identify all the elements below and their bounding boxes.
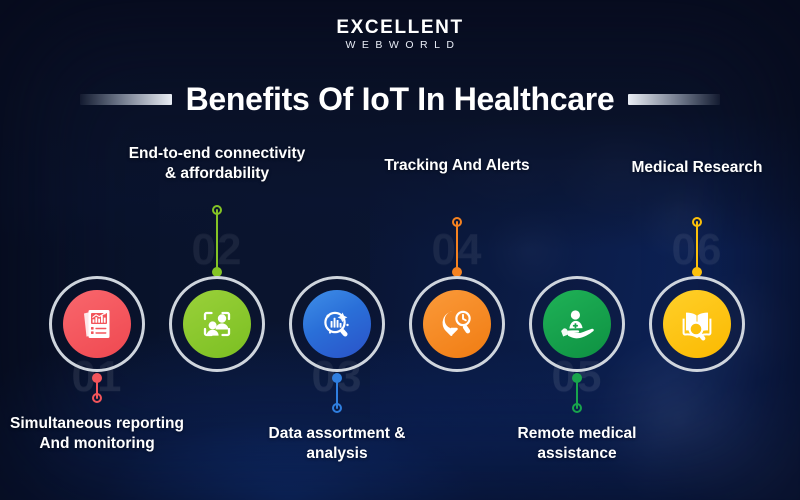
benefit-icon-circle[interactable] (409, 276, 505, 372)
connector-ring-icon (572, 403, 582, 413)
report-chart-icon (63, 290, 131, 358)
brand-logo: EXCELLENT WEBWORLD (0, 17, 800, 52)
title-decoration-right-icon (628, 94, 720, 105)
connector-ring-icon (452, 217, 462, 227)
benefit-icon-circle[interactable] (289, 276, 385, 372)
connector-ring-icon (92, 393, 102, 403)
title-row: Benefits Of IoT In Healthcare (0, 78, 800, 120)
title-decoration-left-icon (80, 94, 172, 105)
people-connect-icon (183, 290, 251, 358)
benefit-icon-circle[interactable] (169, 276, 265, 372)
connector-ring-icon (212, 205, 222, 215)
location-clock-icon (423, 290, 491, 358)
benefits-list: 01Simultaneous reporting And monitoring … (0, 0, 800, 500)
chart-magnifier-icon (303, 290, 371, 358)
connector-line (456, 222, 458, 272)
page-title: Benefits Of IoT In Healthcare (186, 81, 615, 118)
benefit-label: Simultaneous reporting And monitoring (2, 414, 192, 454)
benefit-label: Data assortment & analysis (242, 424, 432, 464)
book-magnifier-icon (663, 290, 731, 358)
connector-ring-icon (332, 403, 342, 413)
benefit-icon-circle[interactable] (649, 276, 745, 372)
brand-tagline: WEBWORLD (0, 38, 800, 52)
benefit-icon-circle[interactable] (529, 276, 625, 372)
benefit-label: Medical Research (602, 158, 792, 178)
connector-dot-icon (572, 373, 582, 383)
benefit-label: End-to-end connectivity & affordability (122, 144, 312, 184)
connector-line (696, 222, 698, 272)
hand-patient-icon (543, 290, 611, 358)
benefit-label: Remote medical assistance (482, 424, 672, 464)
brand-name: EXCELLENT (0, 17, 800, 38)
infographic-canvas: EXCELLENT WEBWORLD Benefits Of IoT In He… (0, 0, 800, 500)
connector-dot-icon (92, 373, 102, 383)
benefit-icon-circle[interactable] (49, 276, 145, 372)
connector-line (216, 210, 218, 272)
benefit-label: Tracking And Alerts (362, 156, 552, 176)
connector-ring-icon (692, 217, 702, 227)
connector-dot-icon (332, 373, 342, 383)
